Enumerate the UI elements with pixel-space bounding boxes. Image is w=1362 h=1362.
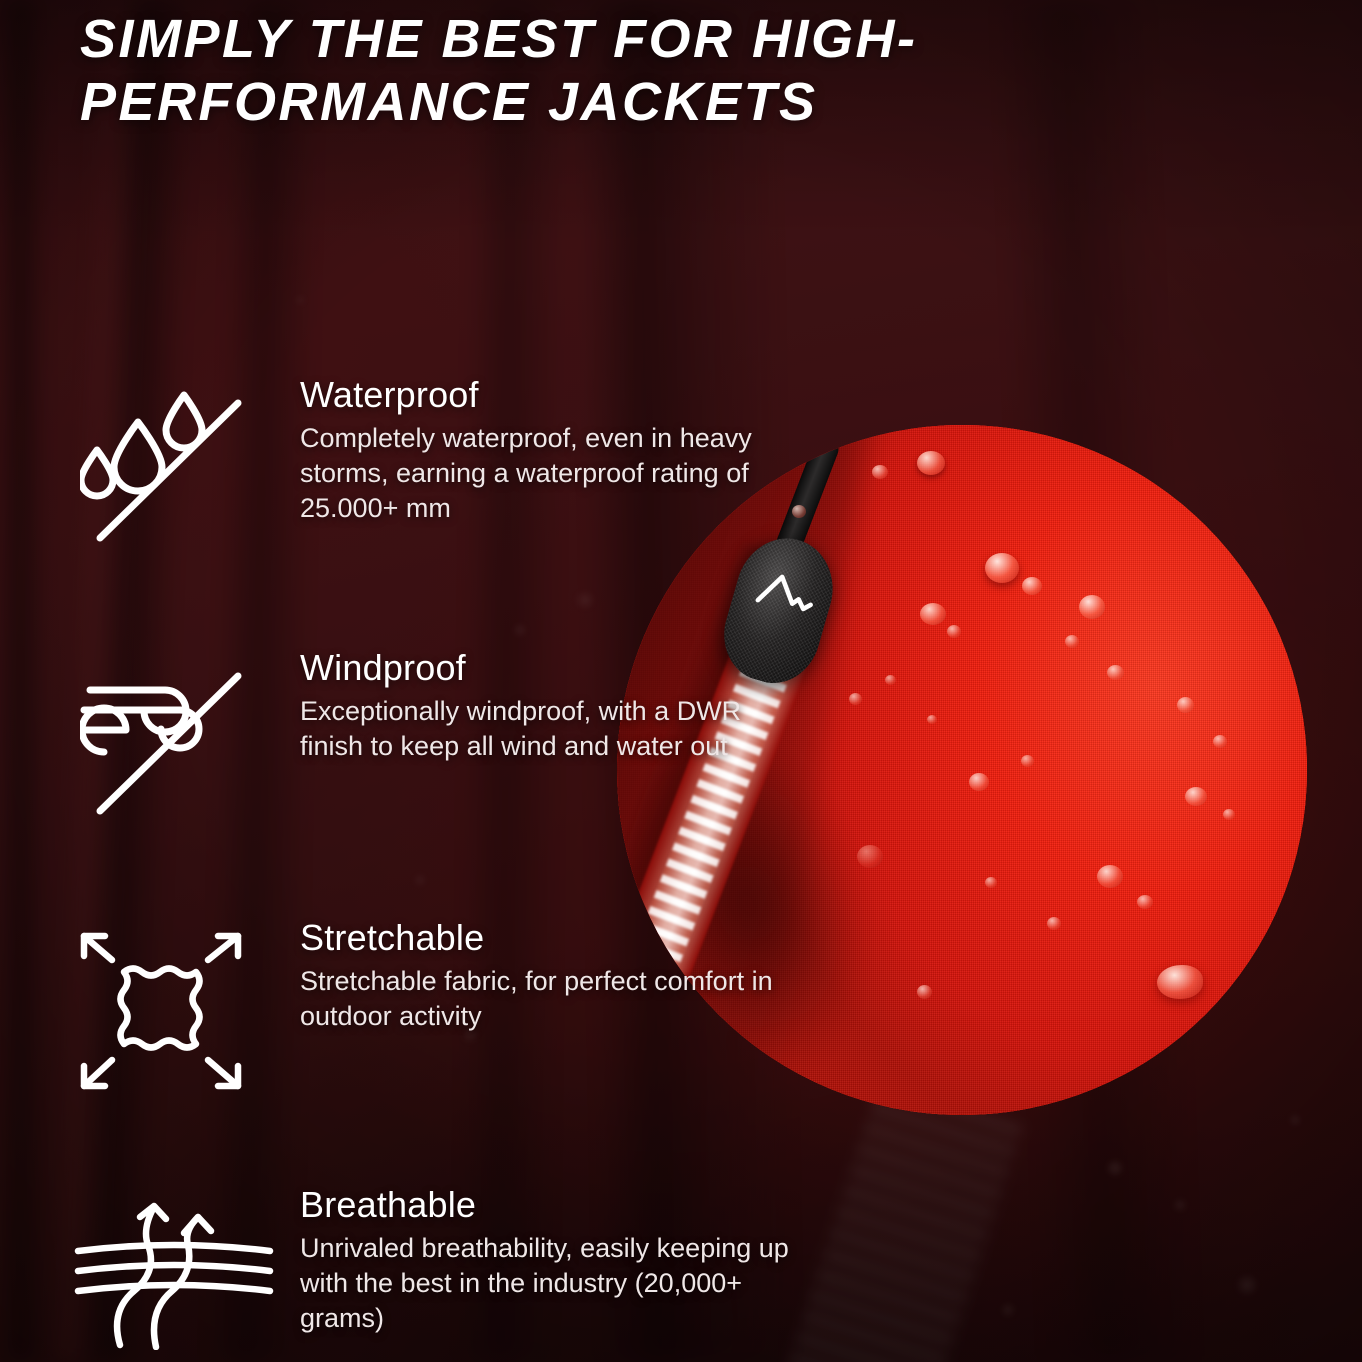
feature-description: Stretchable fabric, for perfect comfort … — [300, 964, 790, 1034]
feature-description: Exceptionally windproof, with a DWR fini… — [300, 694, 790, 764]
water-droplet — [849, 693, 862, 705]
water-droplet — [1213, 735, 1227, 748]
feature-description: Completely waterproof, even in heavy sto… — [300, 421, 790, 526]
water-droplet — [920, 603, 946, 625]
water-droplet — [1223, 809, 1235, 820]
product-feature-poster: SIMPLY THE BEST FOR HIGH-PERFORMANCE JAC… — [0, 0, 1362, 1362]
feature-text-block: Stretchable Stretchable fabric, for perf… — [300, 918, 790, 1034]
feature-description: Unrivaled breathability, easily keeping … — [300, 1231, 790, 1336]
water-droplet — [947, 625, 961, 638]
feature-title: Windproof — [300, 648, 790, 688]
water-droplet — [872, 465, 888, 479]
water-droplet — [1021, 755, 1034, 767]
feature-text-block: Breathable Unrivaled breathability, easi… — [300, 1185, 790, 1336]
water-drops-repellent-icon — [80, 375, 265, 550]
water-droplet — [1185, 787, 1207, 806]
water-droplet — [1047, 917, 1061, 930]
water-droplet — [792, 505, 806, 518]
feature-title: Breathable — [300, 1185, 790, 1225]
wind-repellent-icon — [80, 648, 265, 823]
page-title: SIMPLY THE BEST FOR HIGH-PERFORMANCE JAC… — [80, 8, 1090, 133]
breathability-airflow-icon — [74, 1195, 259, 1362]
feature-title: Stretchable — [300, 918, 790, 958]
water-droplet — [1137, 895, 1153, 909]
stretch-arrows-icon — [80, 932, 265, 1107]
water-droplet — [1022, 577, 1042, 595]
water-droplet — [917, 985, 932, 999]
water-droplet — [927, 715, 937, 724]
water-droplet — [857, 845, 883, 868]
feature-title: Waterproof — [300, 375, 790, 415]
feature-text-block: Windproof Exceptionally windproof, with … — [300, 648, 790, 764]
water-droplet — [885, 675, 896, 685]
water-droplet — [1097, 865, 1123, 888]
water-droplet — [985, 553, 1019, 583]
water-droplet — [1107, 665, 1124, 680]
water-droplet — [917, 451, 945, 475]
water-droplet — [985, 877, 997, 888]
water-droplet — [1079, 595, 1105, 619]
feature-text-block: Waterproof Completely waterproof, even i… — [300, 375, 790, 526]
water-droplet — [969, 773, 989, 791]
water-droplet — [1157, 965, 1203, 999]
water-droplet — [1177, 697, 1194, 713]
water-droplet — [1065, 635, 1079, 648]
